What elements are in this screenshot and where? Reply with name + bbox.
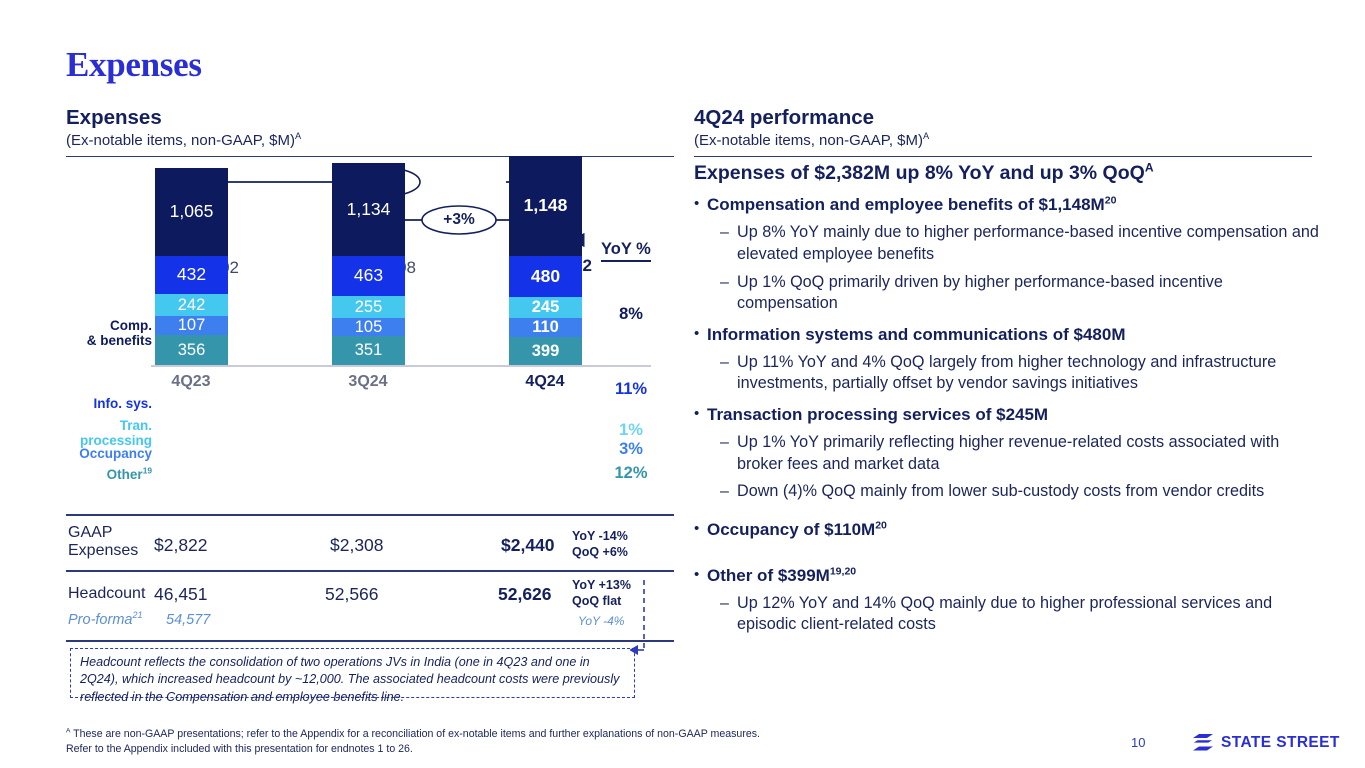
bullet-dot-icon: • <box>694 194 707 216</box>
row-label-pro-forma: Pro-forma21 <box>68 612 142 628</box>
segment-comp-benefits: 1,134 <box>332 163 405 256</box>
category-label-tran-processing: Tran. processing <box>66 418 152 448</box>
slide: Expenses Expenses (Ex-notable items, non… <box>0 0 1365 768</box>
sub-bullet: – Up 11% YoY and 4% QoQ largely from hig… <box>694 352 1319 395</box>
row-note-gaap: YoY -14% QoQ +6% <box>572 529 628 560</box>
segment-tran-processing: 245 <box>509 297 582 318</box>
page-title: Expenses <box>66 45 202 85</box>
dash-icon: – <box>720 352 737 395</box>
segment-other: 351 <box>332 336 405 365</box>
footnotes: A These are non-GAAP presentations; refe… <box>66 727 826 757</box>
bullet-dot-icon: • <box>694 565 707 587</box>
bullet-dot-icon: • <box>694 324 707 346</box>
segment-tran-processing: 255 <box>332 296 405 318</box>
row-label-headcount: Headcount <box>68 585 145 603</box>
chart-baseline <box>151 365 651 367</box>
dash-icon: – <box>720 222 737 265</box>
right-header-divider <box>694 156 1312 157</box>
row-note-headcount: YoY +13% QoQ flat <box>572 578 631 609</box>
state-street-s-icon <box>1192 733 1214 752</box>
bullet-dot-icon: • <box>694 519 707 541</box>
segment-other: 399 <box>509 337 582 365</box>
row-value-gaap-4q24: $2,440 <box>501 535 555 556</box>
right-panel-header: 4Q24 performance (Ex-notable items, non-… <box>694 106 1312 157</box>
left-panel-header: Expenses (Ex-notable items, non-GAAP, $M… <box>66 106 674 157</box>
row-value-headcount-4q24: 52,626 <box>498 584 552 605</box>
row-note-pro-forma: YoY -4% <box>578 614 624 628</box>
state-street-logo: STATE STREET <box>1192 733 1340 752</box>
bullet-occupancy: • Occupancy of $110M20 <box>694 519 1319 541</box>
segment-comp-benefits: 1,148 <box>509 156 582 256</box>
sub-bullet: – Up 1% YoY primarily reflecting higher … <box>694 432 1319 475</box>
sub-bullet: – Up 12% YoY and 14% QoQ mainly due to h… <box>694 593 1319 636</box>
left-header-divider <box>66 156 674 157</box>
sub-bullet: – Up 1% QoQ primarily driven by higher p… <box>694 272 1319 315</box>
row-value-gaap-3q24: $2,308 <box>330 535 384 556</box>
x-tick-4q23: 4Q23 <box>136 373 246 391</box>
bullet-transaction-processing: • Transaction processing services of $24… <box>694 404 1319 426</box>
x-tick-3q24: 3Q24 <box>313 373 423 391</box>
segment-other: 356 <box>155 335 228 365</box>
segment-occupancy: 107 <box>155 316 228 335</box>
right-panel-subheading: (Ex-notable items, non-GAAP, $M)A <box>694 132 1312 150</box>
page-number: 10 <box>1131 735 1145 750</box>
footnote-line-1: A These are non-GAAP presentations; refe… <box>66 727 826 742</box>
right-panel-heading: 4Q24 performance <box>694 106 1312 130</box>
row-value-headcount-4q23: 46,451 <box>154 584 208 605</box>
dash-icon: – <box>720 272 737 315</box>
yoy-info-sys: 11% <box>603 380 659 399</box>
row-label-gaap-expenses: GAAP Expenses <box>68 524 138 561</box>
sub-bullet: – Up 8% YoY mainly due to higher perform… <box>694 222 1319 265</box>
headcount-note-text: Headcount reflects the consolidation of … <box>71 649 634 706</box>
row-value-pro-forma: 54,577 <box>166 612 210 628</box>
right-panel-content: Expenses of $2,382M up 8% YoY and up 3% … <box>694 162 1319 636</box>
segment-info-sys: 463 <box>332 256 405 296</box>
yoy-tran-processing: 1% <box>603 421 659 440</box>
row-value-headcount-3q24: 52,566 <box>325 584 379 605</box>
stacked-bar-chart: +8% +3% $2,202 $2,308 $2,382 Comp. & ben… <box>66 168 676 498</box>
yoy-other: 12% <box>603 464 659 483</box>
category-label-occupancy: Occupancy <box>66 446 152 461</box>
x-tick-4q24: 4Q24 <box>490 373 600 391</box>
footnote-line-2: Refer to the Appendix included with this… <box>66 742 826 757</box>
callout-qoq-growth: +3% <box>422 211 496 229</box>
right-panel-headline: Expenses of $2,382M up 8% YoY and up 3% … <box>694 162 1319 185</box>
segment-info-sys: 432 <box>155 256 228 294</box>
yoy-comp-benefits: 8% <box>603 305 659 324</box>
logo-wordmark: STATE STREET <box>1221 734 1340 752</box>
bullet-information-systems: • Information systems and communications… <box>694 324 1319 346</box>
row-value-gaap-4q23: $2,822 <box>154 535 208 556</box>
table-divider-mid <box>66 570 674 572</box>
segment-info-sys: 480 <box>509 256 582 297</box>
table-divider-top <box>66 514 674 516</box>
segment-tran-processing: 242 <box>155 294 228 316</box>
bullet-dot-icon: • <box>694 404 707 426</box>
bullet-other: • Other of $399M19,20 <box>694 565 1319 587</box>
segment-comp-benefits: 1,065 <box>155 168 228 256</box>
yoy-column-header: YoY % <box>601 240 651 262</box>
bullet-compensation: • Compensation and employee benefits of … <box>694 194 1319 216</box>
category-label-info-sys: Info. sys. <box>66 396 152 411</box>
segment-occupancy: 105 <box>332 318 405 336</box>
yoy-occupancy: 3% <box>603 440 659 459</box>
segment-occupancy: 110 <box>509 318 582 337</box>
headcount-note-box: Headcount reflects the consolidation of … <box>70 648 635 698</box>
dash-icon: – <box>720 481 737 503</box>
dash-icon: – <box>720 432 737 475</box>
dash-icon: – <box>720 593 737 636</box>
sub-bullet: – Down (4)% QoQ mainly from lower sub-cu… <box>694 481 1319 503</box>
table-divider-bottom <box>66 640 674 642</box>
left-panel-subheading: (Ex-notable items, non-GAAP, $M)A <box>66 132 674 150</box>
category-label-comp-benefits: Comp. & benefits <box>66 318 152 348</box>
category-label-other: Other19 <box>66 467 152 482</box>
left-panel-heading: Expenses <box>66 106 674 130</box>
